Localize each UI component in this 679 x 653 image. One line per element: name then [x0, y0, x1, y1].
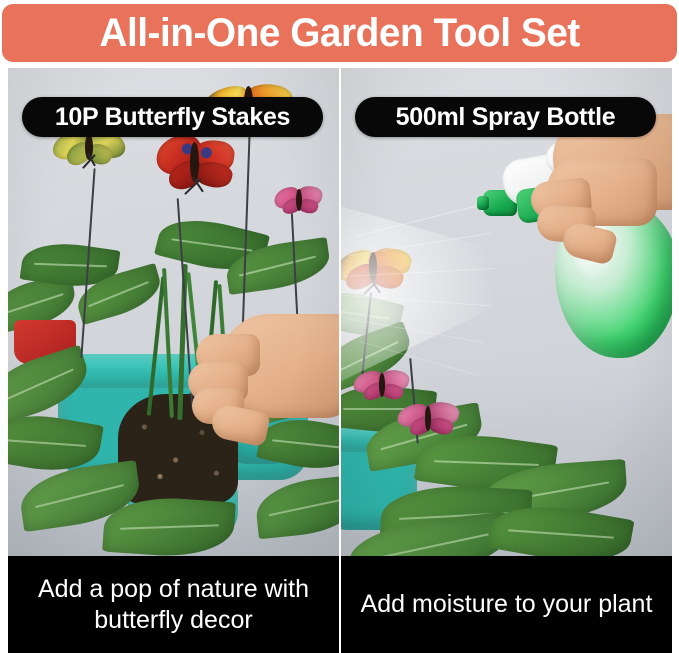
label-text: 500ml Spray Bottle — [396, 105, 616, 130]
caption-band-butterfly-stakes: Add a pop of nature with butterfly decor — [8, 556, 339, 653]
product-infographic: All-in-One Garden Tool Set — [0, 0, 679, 653]
pink-butterfly — [274, 186, 322, 218]
page-title: All-in-One Garden Tool Set — [99, 13, 579, 53]
hand — [501, 114, 672, 278]
label-pill-butterfly-stakes: 10P Butterfly Stakes — [22, 97, 323, 137]
butterfly-body — [190, 142, 199, 182]
butterfly-body — [296, 189, 302, 211]
panel-container: 10P Butterfly Stakes Add a pop of nature… — [0, 68, 679, 653]
thumb — [560, 220, 619, 266]
pink-butterfly-lower — [397, 402, 459, 438]
photo-butterfly-stakes — [8, 68, 339, 556]
spray-nozzle-tip — [477, 196, 489, 210]
pink-butterfly — [353, 370, 409, 404]
header-banner: All-in-One Garden Tool Set — [2, 4, 677, 62]
panel-butterfly-stakes: 10P Butterfly Stakes Add a pop of nature… — [8, 68, 339, 653]
photo-spray-bottle — [341, 68, 672, 556]
butterfly-body — [425, 406, 431, 431]
caption-text: Add moisture to your plant — [353, 589, 661, 620]
caption-text: Add a pop of nature with butterfly decor — [8, 574, 339, 635]
label-text: 10P Butterfly Stakes — [55, 105, 290, 130]
panel-spray-bottle: 500ml Spray Bottle Add moisture to your … — [341, 68, 672, 653]
hand — [186, 304, 339, 442]
butterfly-body — [379, 373, 385, 397]
red-peacock-butterfly — [150, 136, 236, 200]
caption-band-spray-bottle: Add moisture to your plant — [341, 556, 672, 653]
label-pill-spray-bottle: 500ml Spray Bottle — [355, 97, 656, 137]
